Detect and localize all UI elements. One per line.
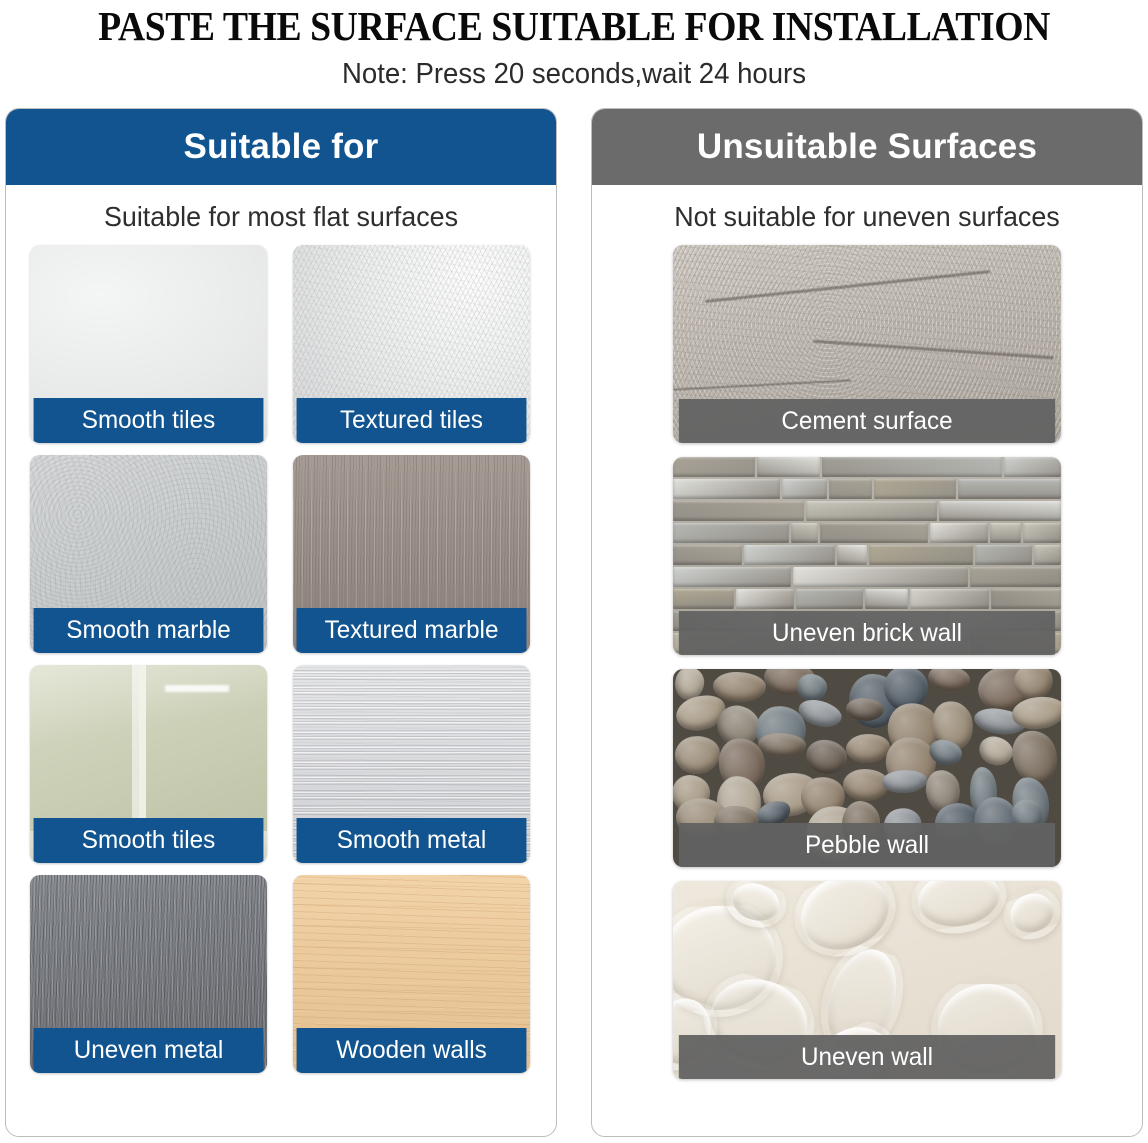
pebble	[976, 732, 1016, 768]
brick	[930, 523, 988, 543]
tile-smooth-metal[interactable]: Smooth metal	[293, 665, 530, 863]
crack-line-icon	[813, 340, 1053, 360]
brick	[970, 567, 1061, 587]
page-note: Note: Press 20 seconds,wait 24 hours	[29, 49, 1120, 93]
tile-caption: Smooth tiles	[34, 818, 264, 863]
brick	[1004, 457, 1061, 477]
tile-caption: Wooden walls	[297, 1028, 527, 1073]
brick	[958, 479, 1061, 499]
photo-uneven-wall[interactable]: Uneven wall	[673, 881, 1061, 1079]
brick	[822, 457, 1002, 477]
tile-caption: Uneven metal	[34, 1028, 264, 1073]
brick	[673, 545, 742, 565]
pebble	[927, 669, 972, 694]
unsuitable-photo-column: Cement surface Uneven brick wall Pebble …	[592, 245, 1142, 1079]
brick-row	[673, 457, 1061, 479]
brick	[757, 457, 820, 477]
tile-wooden-walls[interactable]: Wooden walls	[293, 875, 530, 1073]
suitable-tile-grid: Smooth tiles Textured tiles Smooth marbl…	[6, 245, 556, 1073]
infographic-page: PASTE THE SURFACE SUITABLE FOR INSTALLAT…	[0, 0, 1148, 1143]
photo-uneven-brick-wall[interactable]: Uneven brick wall	[673, 457, 1061, 655]
glass-highlight-icon	[165, 685, 229, 692]
brick	[874, 479, 956, 499]
photo-caption: Uneven brick wall	[679, 611, 1055, 655]
brick	[673, 523, 789, 543]
tile-caption: Smooth metal	[297, 818, 527, 863]
brick	[910, 589, 989, 609]
pebble	[673, 734, 722, 777]
photo-caption: Pebble wall	[679, 823, 1055, 867]
brick-row	[673, 589, 1061, 611]
brick	[782, 479, 827, 499]
brick	[673, 501, 804, 521]
brick	[1034, 545, 1061, 565]
tile-caption: Textured marble	[297, 608, 527, 653]
brick	[829, 479, 872, 499]
tile-textured-marble[interactable]: Textured marble	[293, 455, 530, 653]
brick	[837, 545, 867, 565]
brick	[744, 545, 835, 565]
relief-oval	[906, 881, 1012, 940]
brick	[939, 501, 1061, 521]
brick	[796, 589, 864, 609]
brick-row	[673, 479, 1061, 501]
pebble	[804, 737, 850, 776]
tile-textured-tiles[interactable]: Textured tiles	[293, 245, 530, 443]
brick	[673, 567, 791, 587]
brick	[673, 589, 734, 609]
panel-suitable-subtitle: Suitable for most flat surfaces	[17, 185, 545, 245]
tile-uneven-metal[interactable]: Uneven metal	[30, 875, 267, 1073]
brick	[673, 479, 780, 499]
panel-unsuitable: Unsuitable Surfaces Not suitable for une…	[591, 108, 1143, 1137]
brick-row	[673, 523, 1061, 545]
tile-smooth-glass-tiles[interactable]: Smooth tiles	[30, 665, 267, 863]
brick	[1023, 523, 1061, 543]
tile-caption: Smooth tiles	[34, 398, 264, 443]
brick-row	[673, 567, 1061, 589]
crack-line-icon	[673, 379, 851, 390]
brick	[975, 545, 1032, 565]
tile-smooth-marble[interactable]: Smooth marble	[30, 455, 267, 653]
tile-smooth-tiles[interactable]: Smooth tiles	[30, 245, 267, 443]
panel-suitable-header: Suitable for	[6, 109, 556, 185]
brick	[869, 545, 972, 565]
page-title: PASTE THE SURFACE SUITABLE FOR INSTALLAT…	[46, 0, 1102, 49]
tile-caption: Smooth marble	[34, 608, 264, 653]
brick	[806, 501, 937, 521]
crack-line-icon	[705, 270, 991, 303]
panels-container: Suitable for Suitable for most flat surf…	[0, 108, 1148, 1137]
brick-row	[673, 501, 1061, 523]
pebble	[796, 672, 828, 702]
panel-unsuitable-subtitle: Not suitable for uneven surfaces	[603, 185, 1131, 245]
brick	[791, 523, 818, 543]
brick	[990, 523, 1021, 543]
brick	[793, 567, 968, 587]
photo-caption: Cement surface	[679, 399, 1055, 443]
panel-suitable: Suitable for Suitable for most flat surf…	[5, 108, 557, 1137]
brick-row	[673, 545, 1061, 567]
panel-unsuitable-header: Unsuitable Surfaces	[592, 109, 1142, 185]
photo-caption: Uneven wall	[679, 1035, 1055, 1079]
brick	[991, 589, 1061, 609]
tile-caption: Textured tiles	[297, 398, 527, 443]
pebble	[845, 733, 891, 765]
brick	[736, 589, 794, 609]
brick	[865, 589, 907, 609]
brick	[820, 523, 929, 543]
photo-pebble-wall[interactable]: Pebble wall	[673, 669, 1061, 867]
photo-cement-surface[interactable]: Cement surface	[673, 245, 1061, 443]
brick	[673, 457, 755, 477]
